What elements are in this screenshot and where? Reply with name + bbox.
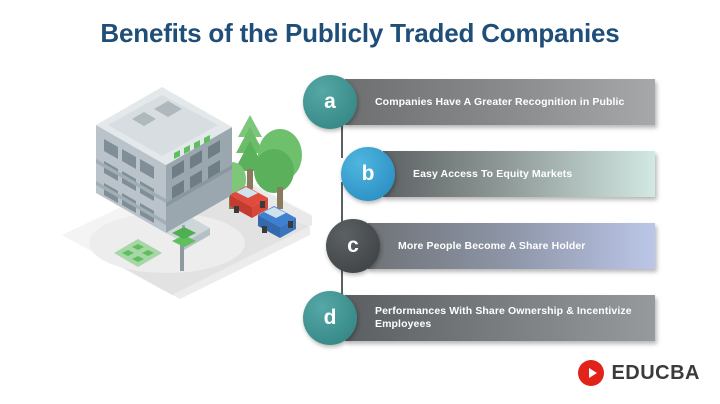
benefit-bar-c: More People Become A Share Holder xyxy=(368,223,655,269)
benefit-letter-d: d xyxy=(324,306,337,330)
benefit-badge-d[interactable]: d xyxy=(303,291,357,345)
play-triangle-icon xyxy=(589,368,597,378)
benefit-badge-c[interactable]: c xyxy=(326,219,380,273)
isometric-office-building-illustration xyxy=(62,75,312,305)
benefit-letter-c: c xyxy=(347,234,359,258)
benefit-badge-b[interactable]: b xyxy=(341,147,395,201)
slide-canvas: Benefits of the Publicly Traded Companie… xyxy=(0,0,720,404)
benefit-item-a[interactable]: Companies Have A Greater Recognition in … xyxy=(303,79,613,125)
benefit-item-d[interactable]: Performances With Share Ownership & Ince… xyxy=(303,295,613,341)
benefit-letter-a: a xyxy=(324,90,336,114)
benefit-item-c[interactable]: More People Become A Share Holder c xyxy=(326,223,613,269)
educba-logo[interactable]: EDUCBA xyxy=(578,360,700,386)
benefit-text-c: More People Become A Share Holder xyxy=(398,240,586,253)
page-title: Benefits of the Publicly Traded Companie… xyxy=(0,18,720,49)
play-circle-icon xyxy=(578,360,604,386)
benefit-badge-a[interactable]: a xyxy=(303,75,357,129)
benefit-bar-d: Performances With Share Ownership & Ince… xyxy=(345,295,655,341)
benefit-item-b[interactable]: Easy Access To Equity Markets b xyxy=(341,151,613,197)
benefit-text-b: Easy Access To Equity Markets xyxy=(413,168,572,181)
benefit-bar-a: Companies Have A Greater Recognition in … xyxy=(345,79,655,125)
benefit-text-d: Performances With Share Ownership & Ince… xyxy=(375,305,645,331)
benefit-text-a: Companies Have A Greater Recognition in … xyxy=(375,96,624,109)
benefit-bar-b: Easy Access To Equity Markets xyxy=(383,151,655,197)
benefit-letter-b: b xyxy=(362,162,375,186)
logo-text: EDUCBA xyxy=(611,362,700,385)
